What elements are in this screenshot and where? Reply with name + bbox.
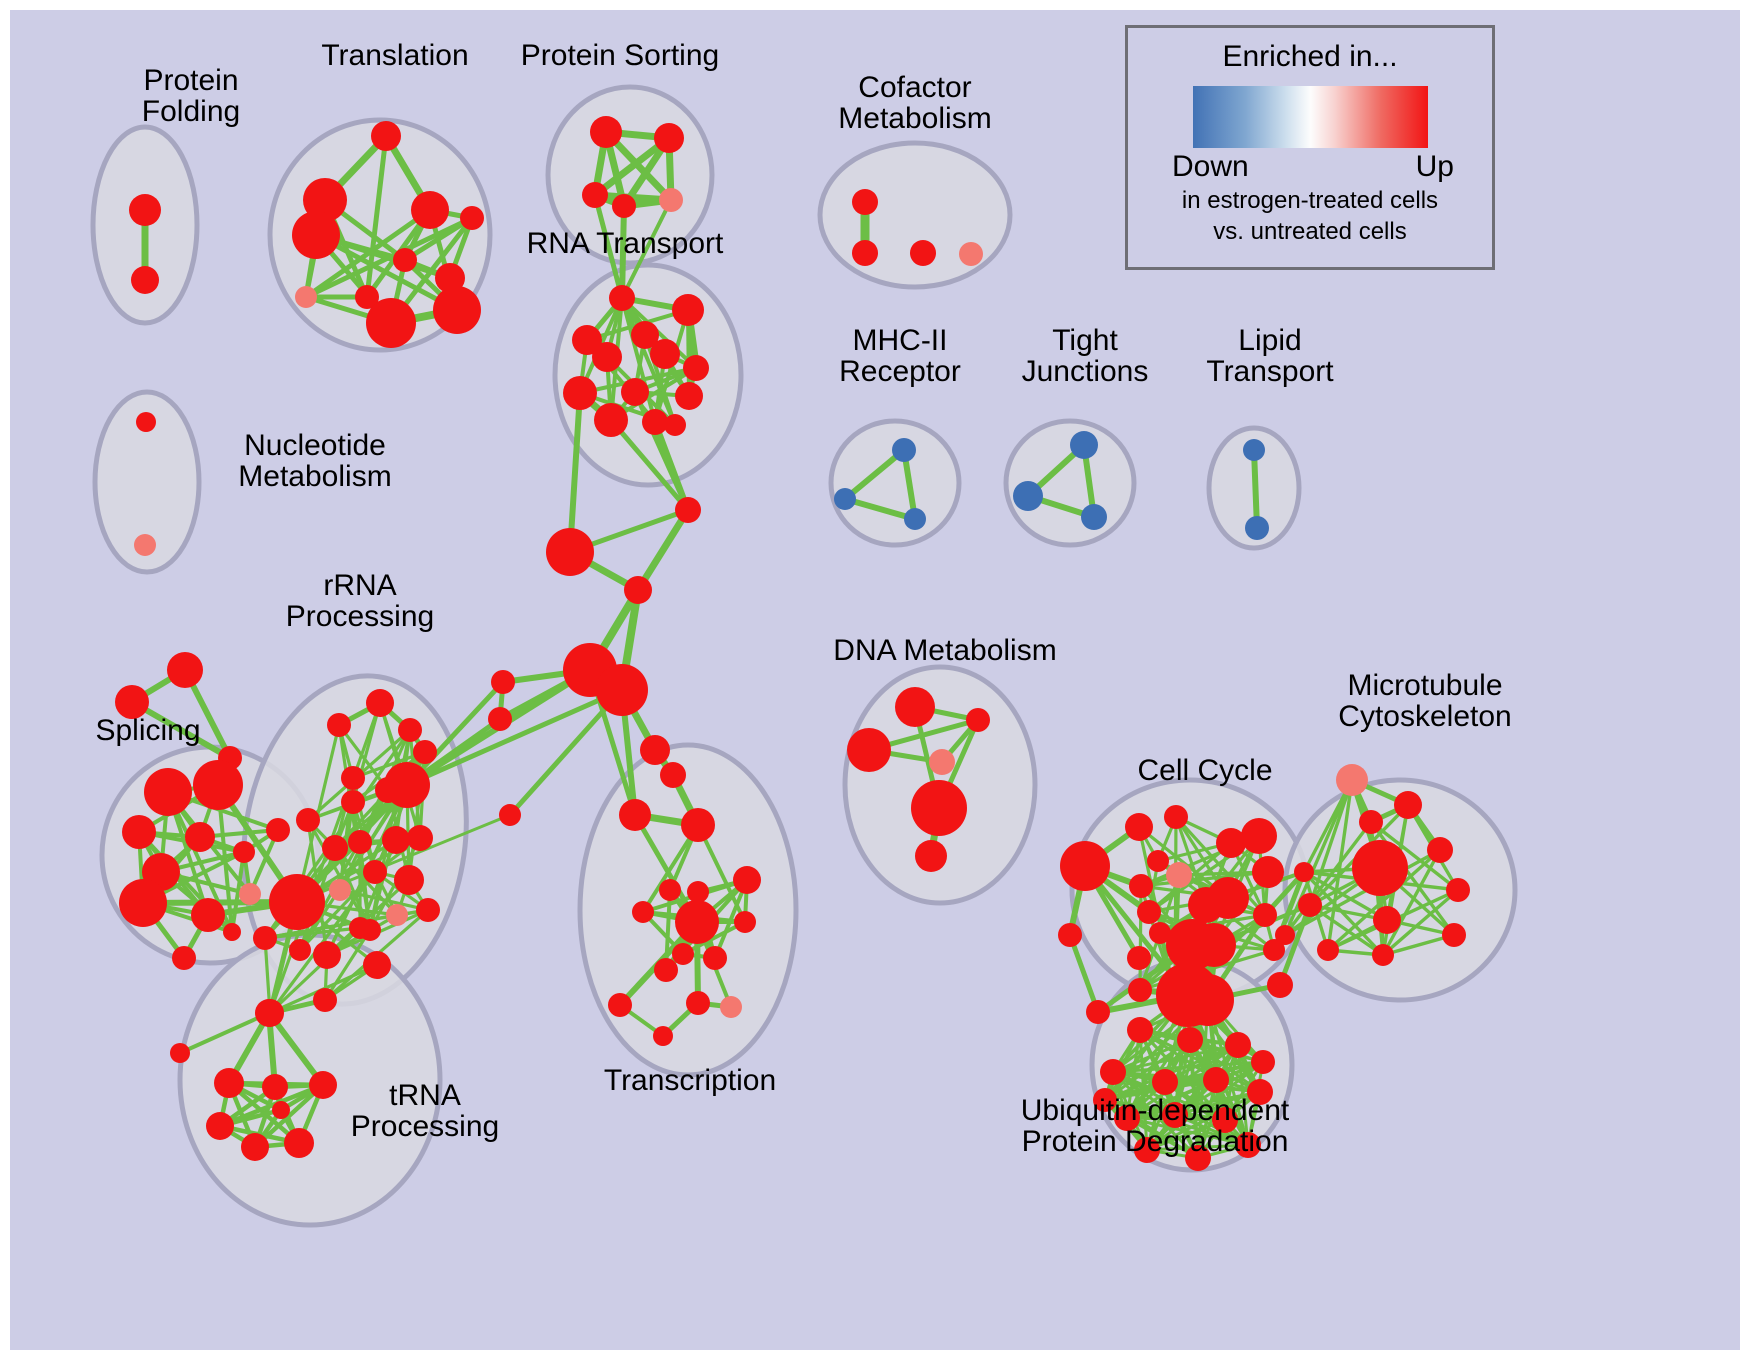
network-node[interactable]: [1267, 972, 1293, 998]
network-node[interactable]: [1373, 906, 1401, 934]
network-node[interactable]: [1192, 923, 1236, 967]
network-node[interactable]: [223, 923, 241, 941]
network-node[interactable]: [911, 780, 967, 836]
network-node[interactable]: [640, 735, 670, 765]
network-node[interactable]: [284, 1128, 314, 1158]
network-node[interactable]: [672, 294, 704, 326]
network-node[interactable]: [167, 652, 203, 688]
network-node[interactable]: [329, 879, 351, 901]
network-node[interactable]: [1125, 813, 1153, 841]
network-node[interactable]: [313, 988, 337, 1012]
network-node[interactable]: [1081, 504, 1107, 530]
network-node[interactable]: [327, 713, 351, 737]
network-node[interactable]: [904, 508, 926, 530]
network-node[interactable]: [394, 865, 424, 895]
network-node[interactable]: [296, 808, 320, 832]
network-node[interactable]: [632, 901, 654, 923]
legend-caption-line-1: in estrogen-treated cells: [1128, 188, 1492, 215]
cluster-label-splicing: Splicing: [58, 715, 238, 746]
network-node[interactable]: [660, 762, 686, 788]
network-node[interactable]: [852, 189, 878, 215]
network-node[interactable]: [371, 121, 401, 151]
network-node[interactable]: [363, 860, 387, 884]
legend-color-gradient-bar: [1193, 86, 1428, 148]
network-node[interactable]: [1317, 939, 1339, 961]
network-node[interactable]: [341, 790, 365, 814]
network-node[interactable]: [488, 707, 512, 731]
network-node[interactable]: [686, 991, 710, 1015]
network-node[interactable]: [253, 926, 277, 950]
network-node[interactable]: [1241, 818, 1277, 854]
network-node[interactable]: [650, 339, 680, 369]
network-node[interactable]: [590, 116, 622, 148]
network-node[interactable]: [499, 804, 521, 826]
network-node[interactable]: [733, 866, 761, 894]
network-node[interactable]: [687, 881, 709, 903]
network-node[interactable]: [959, 242, 983, 266]
network-node[interactable]: [594, 403, 628, 437]
cluster-label-cofactor-metabolism: Cofactor Metabolism: [790, 72, 1040, 134]
network-node[interactable]: [289, 939, 311, 961]
network-node[interactable]: [852, 240, 878, 266]
network-node[interactable]: [1128, 978, 1152, 1002]
network-node[interactable]: [1427, 837, 1453, 863]
network-node[interactable]: [491, 670, 515, 694]
network-node[interactable]: [460, 206, 484, 230]
network-node[interactable]: [621, 378, 649, 406]
network-node[interactable]: [1182, 974, 1234, 1026]
network-node[interactable]: [659, 188, 683, 212]
network-node[interactable]: [834, 488, 856, 510]
network-node[interactable]: [1446, 878, 1470, 902]
network-node[interactable]: [966, 708, 990, 732]
cluster-label-translation: Translation: [280, 40, 510, 71]
network-node[interactable]: [563, 376, 597, 410]
network-node[interactable]: [1058, 923, 1082, 947]
network-node[interactable]: [915, 840, 947, 872]
network-node[interactable]: [295, 286, 317, 308]
cluster-label-microtubule-cytoskeleton: Microtubule Cytoskeleton: [1300, 670, 1550, 732]
network-node[interactable]: [366, 689, 394, 717]
network-node[interactable]: [1070, 431, 1098, 459]
cluster-label-rna-transport: RNA Transport: [500, 228, 750, 259]
network-node[interactable]: [1359, 810, 1383, 834]
network-node[interactable]: [255, 999, 283, 1027]
network-node[interactable]: [239, 883, 261, 905]
network-node[interactable]: [672, 943, 694, 965]
network-node[interactable]: [1100, 1059, 1126, 1085]
cluster-label-trna-processing: tRNA Processing: [315, 1080, 535, 1142]
cluster-label-protein-folding: Protein Folding: [86, 65, 296, 127]
cluster-ellipse-cofactor-metabolism: [820, 143, 1010, 287]
network-node[interactable]: [292, 211, 340, 259]
network-node[interactable]: [134, 534, 156, 556]
network-node[interactable]: [382, 826, 410, 854]
network-node[interactable]: [119, 879, 167, 927]
cluster-label-ubiquitin-protein-degradation: Ubiquitin-dependent Protein Degradation: [985, 1095, 1325, 1157]
network-node[interactable]: [653, 1026, 673, 1046]
network-node[interactable]: [233, 841, 255, 863]
network-node[interactable]: [1203, 1067, 1229, 1093]
network-node[interactable]: [341, 766, 365, 790]
network-node[interactable]: [1251, 1050, 1275, 1074]
network-node[interactable]: [1352, 840, 1408, 896]
network-node[interactable]: [612, 194, 636, 218]
cluster-label-lipid-transport: Lipid Transport: [1170, 325, 1370, 387]
network-node[interactable]: [929, 749, 955, 775]
network-node[interactable]: [892, 438, 916, 462]
network-node[interactable]: [1225, 1032, 1251, 1058]
network-node[interactable]: [1245, 516, 1269, 540]
network-node[interactable]: [433, 286, 481, 334]
network-node[interactable]: [170, 1043, 190, 1063]
network-node[interactable]: [384, 762, 430, 808]
network-node[interactable]: [122, 815, 156, 849]
cluster-label-dna-metabolism: DNA Metabolism: [810, 635, 1080, 666]
cluster-label-cell-cycle: Cell Cycle: [1100, 755, 1310, 786]
network-node[interactable]: [129, 194, 161, 226]
network-node[interactable]: [895, 687, 935, 727]
network-node[interactable]: [411, 191, 449, 229]
network-edge: [638, 510, 688, 590]
network-node[interactable]: [734, 911, 756, 933]
figure-root: Enriched in... Down Up in estrogen-treat…: [0, 0, 1750, 1360]
network-node[interactable]: [675, 382, 703, 410]
network-node[interactable]: [1060, 841, 1110, 891]
network-node[interactable]: [1394, 791, 1422, 819]
network-node[interactable]: [659, 879, 681, 901]
network-node[interactable]: [416, 898, 440, 922]
network-node[interactable]: [172, 946, 196, 970]
network-node[interactable]: [359, 919, 381, 941]
network-node[interactable]: [596, 664, 648, 716]
cluster-label-rrna-processing: rRNA Processing: [250, 570, 470, 632]
network-node[interactable]: [1127, 946, 1151, 970]
network-node[interactable]: [546, 528, 594, 576]
network-node[interactable]: [642, 409, 668, 435]
legend-box: Enriched in... Down Up in estrogen-treat…: [1125, 25, 1495, 270]
network-node[interactable]: [1207, 877, 1249, 919]
network-node[interactable]: [675, 497, 701, 523]
network-node[interactable]: [144, 768, 192, 816]
network-node[interactable]: [910, 240, 936, 266]
network-node[interactable]: [393, 248, 417, 272]
network-node[interactable]: [398, 718, 422, 742]
cluster-label-mhc-ii-receptor: MHC-II Receptor: [790, 325, 1010, 387]
network-node[interactable]: [313, 941, 341, 969]
network-node[interactable]: [624, 576, 652, 604]
network-node[interactable]: [1177, 1027, 1203, 1053]
network-node[interactable]: [675, 900, 719, 944]
network-node[interactable]: [348, 830, 372, 854]
legend-high-label: Up: [1416, 150, 1454, 184]
network-node[interactable]: [1252, 856, 1284, 888]
network-node[interactable]: [1442, 923, 1466, 947]
cluster-label-nucleotide-metabolism: Nucleotide Metabolism: [200, 430, 430, 492]
network-node[interactable]: [1253, 903, 1277, 927]
legend-low-label: Down: [1172, 150, 1249, 184]
network-node[interactable]: [1152, 1069, 1178, 1095]
network-node[interactable]: [1147, 850, 1169, 872]
network-node[interactable]: [683, 355, 709, 381]
network-node[interactable]: [407, 825, 433, 851]
network-node[interactable]: [262, 1074, 288, 1100]
network-node[interactable]: [1164, 805, 1188, 829]
network-node[interactable]: [703, 946, 727, 970]
cluster-ellipse-mhc-ii: [831, 421, 959, 545]
network-node[interactable]: [619, 799, 651, 831]
network-node[interactable]: [191, 898, 225, 932]
legend-caption-line-2: vs. untreated cells: [1128, 219, 1492, 246]
network-node[interactable]: [664, 414, 686, 436]
network-node[interactable]: [720, 996, 742, 1018]
network-node[interactable]: [1127, 1017, 1153, 1043]
network-node[interactable]: [1275, 925, 1295, 945]
legend-title: Enriched in...: [1128, 40, 1492, 74]
network-node[interactable]: [1086, 1000, 1110, 1024]
network-node[interactable]: [193, 760, 243, 810]
network-node[interactable]: [241, 1133, 269, 1161]
network-node[interactable]: [1294, 862, 1314, 882]
network-node[interactable]: [582, 182, 608, 208]
network-node[interactable]: [1129, 874, 1153, 898]
network-node[interactable]: [681, 808, 715, 842]
network-node[interactable]: [1336, 764, 1368, 796]
network-node[interactable]: [1137, 900, 1161, 924]
cluster-label-tight-junctions: Tight Junctions: [985, 325, 1185, 387]
network-node[interactable]: [609, 285, 635, 311]
network-node[interactable]: [1013, 481, 1043, 511]
network-node[interactable]: [592, 342, 622, 372]
network-node[interactable]: [1372, 944, 1394, 966]
network-node[interactable]: [214, 1068, 244, 1098]
cluster-label-protein-sorting: Protein Sorting: [490, 40, 750, 71]
cluster-label-transcription: Transcription: [570, 1065, 810, 1096]
network-node[interactable]: [185, 822, 215, 852]
network-node[interactable]: [1166, 862, 1192, 888]
network-node[interactable]: [366, 298, 416, 348]
network-node[interactable]: [363, 951, 391, 979]
network-node[interactable]: [386, 904, 408, 926]
network-node[interactable]: [269, 874, 325, 930]
network-node[interactable]: [136, 412, 156, 432]
network-node[interactable]: [131, 266, 159, 294]
network-node[interactable]: [272, 1101, 290, 1119]
network-node[interactable]: [322, 835, 348, 861]
network-node[interactable]: [608, 993, 632, 1017]
network-node[interactable]: [1243, 439, 1265, 461]
network-node[interactable]: [1298, 893, 1322, 917]
network-node[interactable]: [654, 958, 678, 982]
network-node[interactable]: [654, 123, 684, 153]
network-node[interactable]: [266, 818, 290, 842]
network-node[interactable]: [206, 1112, 234, 1140]
network-node[interactable]: [847, 728, 891, 772]
network-node[interactable]: [413, 740, 437, 764]
